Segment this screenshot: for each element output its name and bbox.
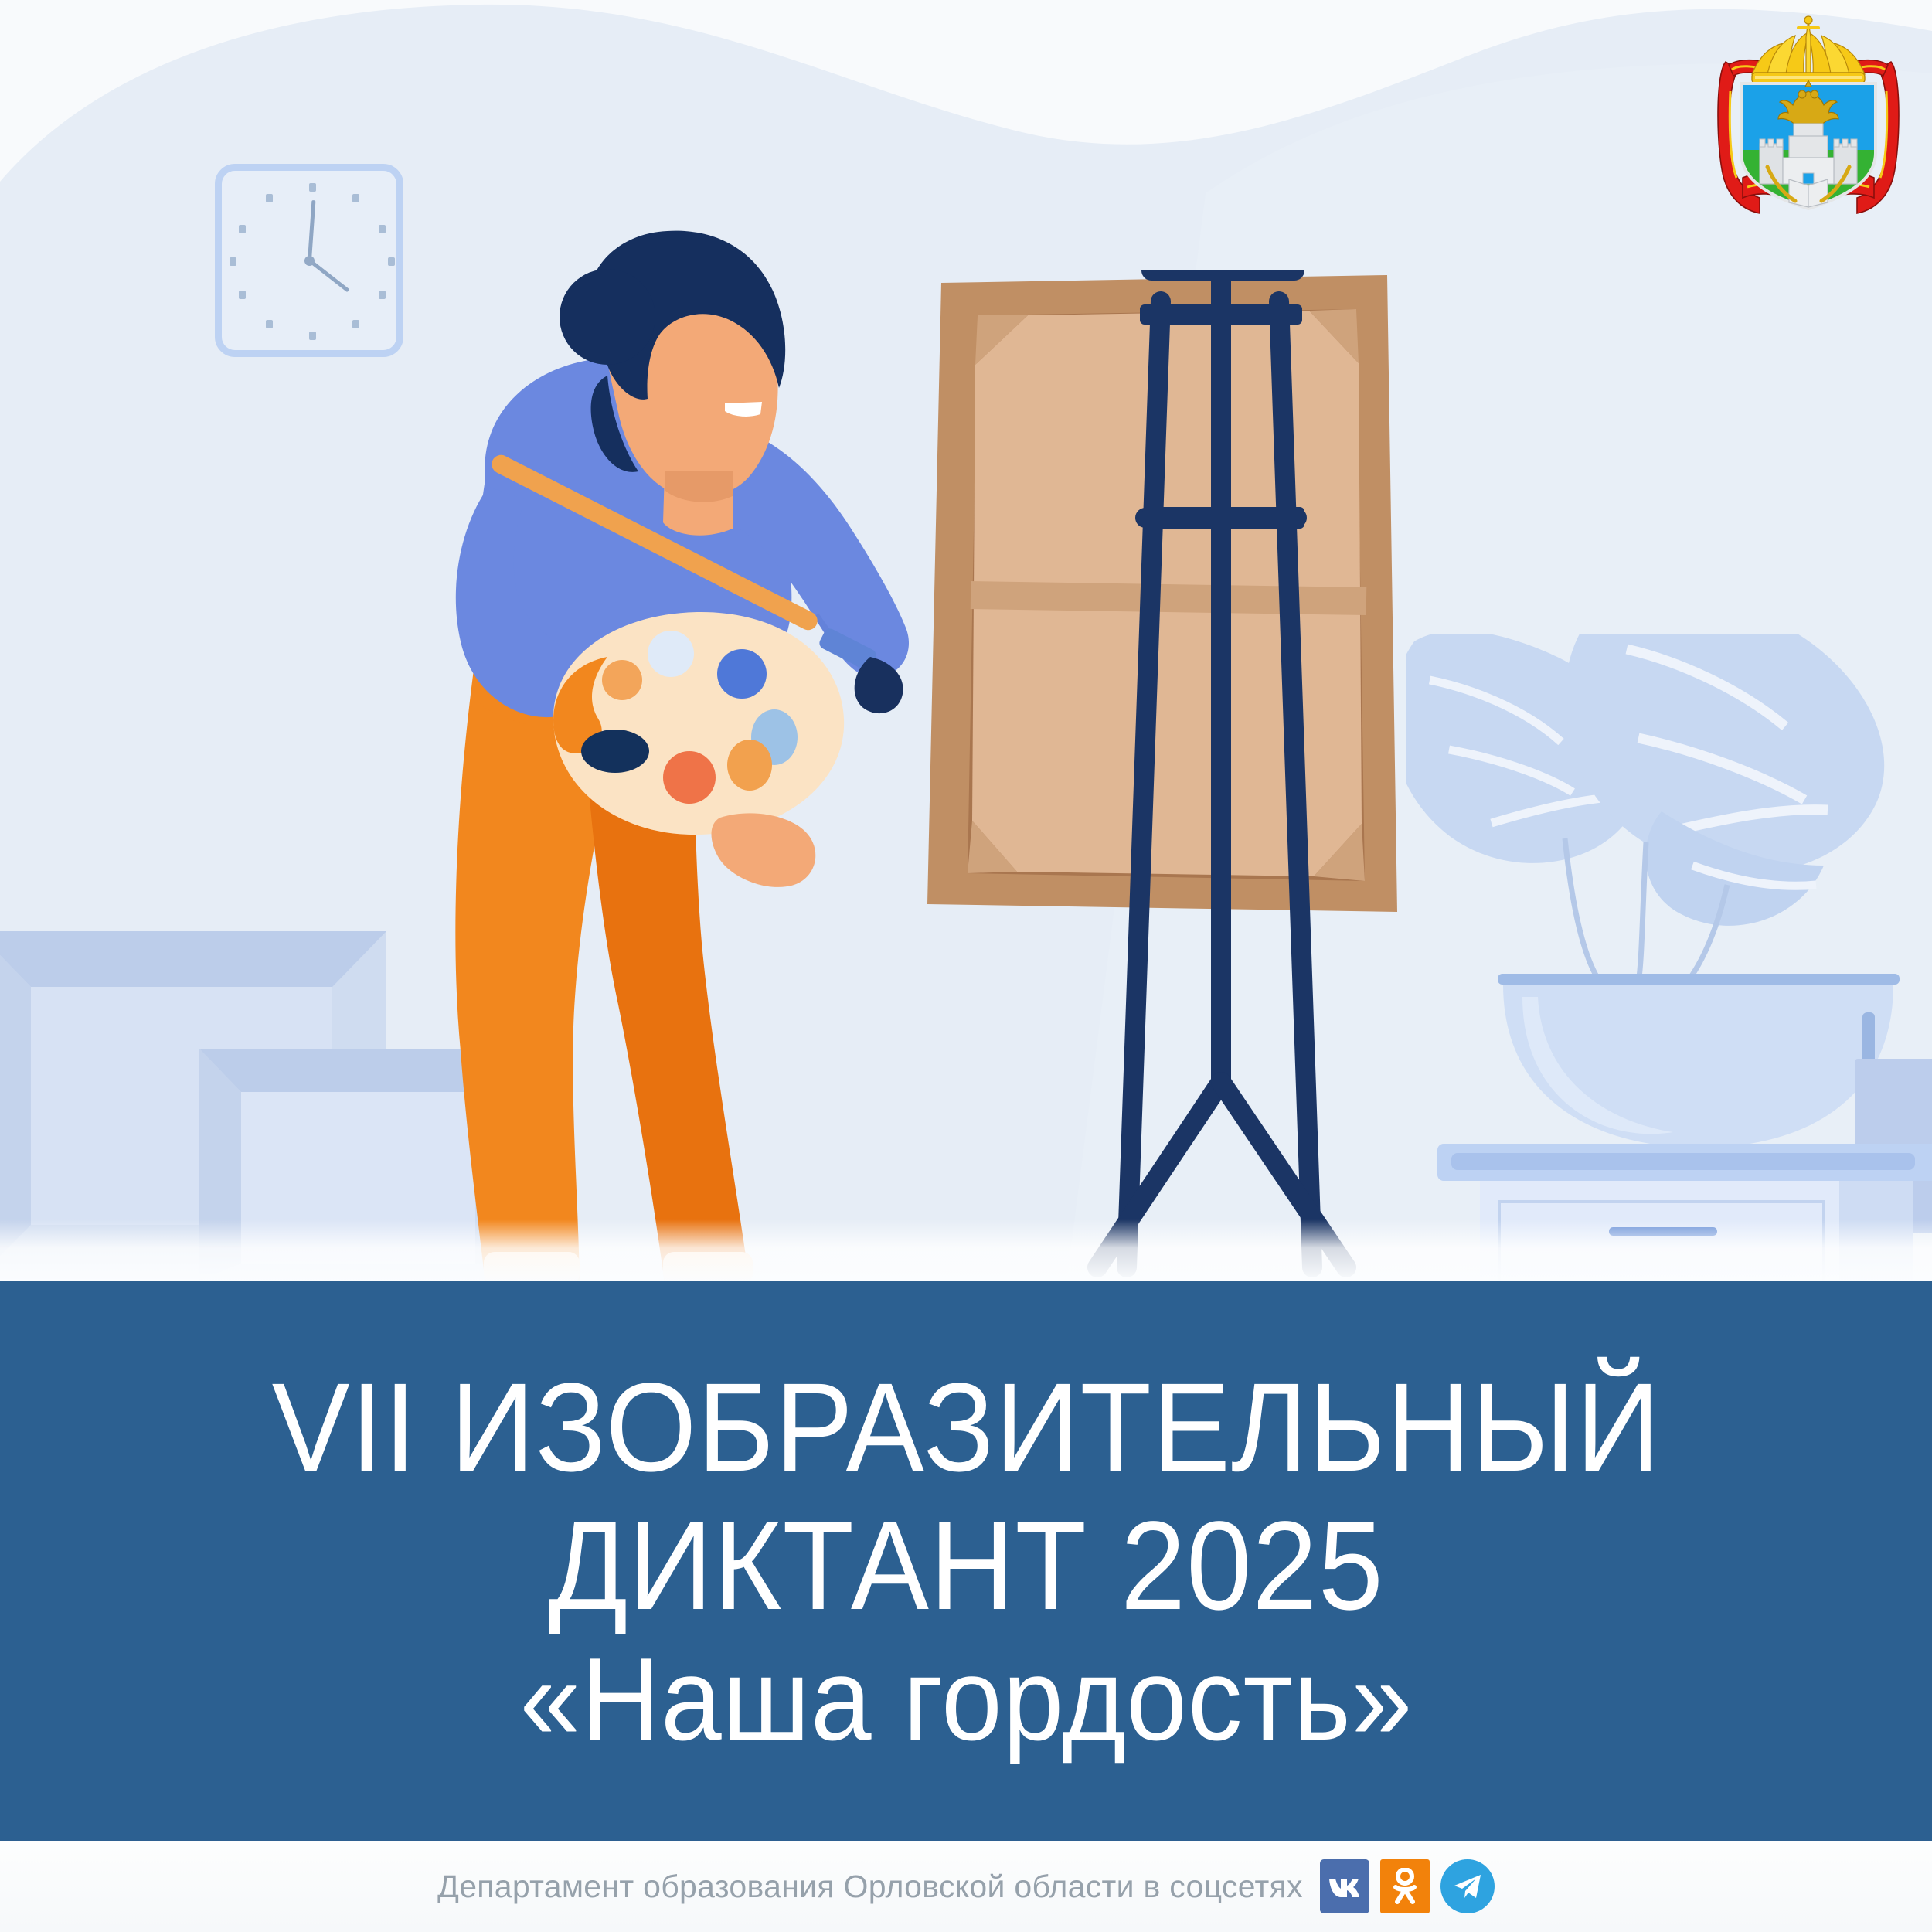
palette-dab-orange: [602, 660, 642, 700]
oryol-oblast-coat-of-arms-icon: [1712, 14, 1905, 224]
palette-dab-amber: [727, 740, 772, 791]
artist-hair-bun: [560, 269, 655, 365]
telegram-icon[interactable]: [1440, 1859, 1495, 1913]
illustration-scene: [0, 0, 1932, 1283]
palette-dab-navy: [581, 730, 649, 773]
vk-icon[interactable]: [1320, 1859, 1369, 1913]
scene-bottom-fade: [0, 1219, 1932, 1283]
palette-dab-pale-blue: [648, 631, 694, 677]
footer-bar: Департамент образования Орловской област…: [0, 1841, 1932, 1932]
clock-hour-hand: [308, 200, 315, 260]
artist-palette: [553, 612, 844, 835]
title-line-3: «Наша гордость»: [519, 1635, 1413, 1764]
palette-dab-coral: [663, 751, 716, 804]
footer-text: Департамент образования Орловской област…: [437, 1869, 1303, 1905]
poster-root: VII ИЗОБРАЗИТЕЛЬНЫЙ ДИКТАНТ 2025 «Наша г…: [0, 0, 1932, 1932]
title-banner: VII ИЗОБРАЗИТЕЛЬНЫЙ ДИКТАНТ 2025 «Наша г…: [0, 1281, 1932, 1841]
emblem-crown: [1752, 16, 1865, 83]
title-line-1: VII ИЗОБРАЗИТЕЛЬНЫЙ: [271, 1358, 1661, 1496]
palette-dab-royal-blue: [717, 649, 767, 699]
social-links: [1320, 1859, 1495, 1913]
easel-with-canvas: [842, 270, 1631, 1283]
title-line-2: ДИКТАНТ 2025: [548, 1496, 1383, 1634]
artist-figure: [386, 224, 951, 1283]
wall-clock: [215, 164, 403, 357]
ok-icon[interactable]: [1380, 1859, 1430, 1913]
clock-center-pin: [304, 256, 315, 266]
clock-minute-hand: [308, 259, 350, 292]
